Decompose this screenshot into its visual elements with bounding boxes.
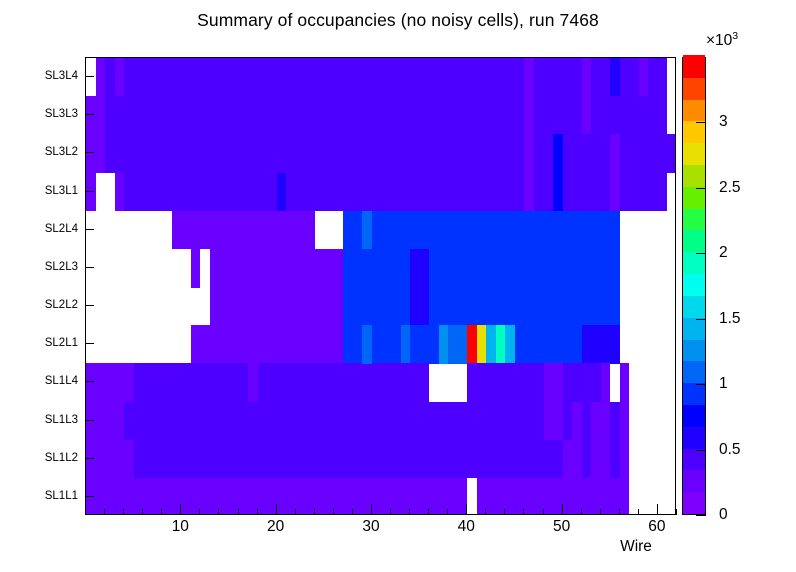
colorbar-tick [696, 253, 706, 254]
colorbar-exponent: ×103 [706, 30, 738, 50]
y-axis-tick [85, 267, 94, 268]
y-axis-tick [85, 152, 94, 153]
y-axis-label-sl2l3: SL2L3 [8, 261, 78, 273]
colorbar-band [683, 295, 705, 317]
heatmap-cell [610, 173, 620, 212]
colorbar-tick-label: 1.5 [719, 310, 741, 328]
heatmap-cell [524, 58, 534, 97]
heatmap-cell [105, 134, 115, 173]
heatmap-cell [210, 287, 343, 326]
heatmap-cell [258, 363, 430, 402]
heatmap-cell [486, 325, 496, 364]
heatmap-cell [343, 249, 619, 288]
y-axis-label-sl2l4: SL2L4 [8, 223, 78, 235]
y-axis-tick [85, 191, 94, 192]
y-axis-label-sl1l1: SL1L1 [8, 490, 78, 502]
colorbar-tick [696, 450, 706, 451]
heatmap-cell [620, 440, 630, 479]
y-axis-tick [85, 458, 94, 459]
colorbar-band [683, 448, 705, 470]
colorbar-tick-label: 0 [719, 506, 728, 524]
heatmap-cell [210, 249, 343, 288]
heatmap-cell [582, 58, 592, 97]
heatmap-cell [86, 478, 343, 515]
colorbar-band [683, 77, 705, 99]
y-axis-label-sl2l1: SL2L1 [8, 337, 78, 349]
heatmap-cell [343, 211, 619, 250]
heatmap-cell [448, 325, 467, 364]
colorbar-tick [696, 122, 706, 123]
heatmap-cell [524, 96, 534, 135]
x-axis-label-60: 60 [648, 518, 665, 536]
heatmap-cell [582, 96, 592, 135]
colorbar-ticks: 00.511.522.53 [706, 57, 776, 515]
heatmap-cell [343, 287, 619, 326]
y-axis-tick [85, 420, 94, 421]
heatmap-cell [620, 363, 630, 402]
x-axis-tick [676, 509, 677, 515]
colorbar-band [683, 208, 705, 230]
heatmap-cell [610, 134, 620, 173]
heatmap-cell [477, 325, 487, 364]
y-axis-label-sl3l3: SL3L3 [8, 108, 78, 120]
y-axis-tick [85, 76, 94, 77]
heatmap-cell [362, 211, 372, 250]
colorbar-band [683, 492, 705, 514]
colorbar-band [683, 121, 705, 143]
heatmap-plot-area [85, 57, 676, 515]
y-axis-tick [85, 343, 94, 344]
heatmap-cell [591, 440, 610, 479]
heatmap-cell [124, 173, 667, 212]
colorbar-tick-label: 2.5 [719, 179, 741, 197]
heatmap-cell [544, 402, 563, 441]
y-axis-labels: SL3L4SL3L3SL3L2SL3L1SL2L4SL2L3SL2L2SL2L1… [8, 57, 78, 515]
heatmap-cell [610, 58, 620, 97]
colorbar-exponent-power: 3 [732, 30, 738, 42]
heatmap-cell [639, 58, 649, 97]
colorbar-band [683, 55, 705, 77]
heatmap-cell [496, 325, 506, 364]
colorbar-band [683, 143, 705, 165]
heatmap-cell [620, 402, 630, 441]
colorbar-band [683, 274, 705, 296]
colorbar-band [683, 383, 705, 405]
y-axis-label-sl1l3: SL1L3 [8, 414, 78, 426]
colorbar-band [683, 99, 705, 121]
colorbar-tick-label: 3 [719, 113, 728, 131]
colorbar-tick [696, 188, 706, 189]
heatmap-cell [601, 363, 611, 402]
heatmap-cell [544, 363, 563, 402]
page-title: Summary of occupancies (no noisy cells),… [0, 10, 796, 31]
heatmap-cell [115, 58, 125, 97]
heatmap-cell [115, 134, 676, 173]
colorbar-tick [696, 515, 706, 516]
colorbar-band [683, 470, 705, 492]
colorbar-tick-label: 0.5 [719, 441, 741, 459]
x-axis-label-50: 50 [553, 518, 570, 536]
x-axis-label-40: 40 [458, 518, 475, 536]
heatmap-cell [248, 211, 315, 250]
colorbar-band [683, 339, 705, 361]
heatmap-cell [467, 363, 543, 402]
y-axis-ticks [85, 57, 97, 515]
heatmap-cell [105, 96, 115, 135]
colorbar-band [683, 361, 705, 383]
y-axis-tick [85, 305, 94, 306]
heatmap-cell [553, 173, 563, 212]
y-axis-tick [85, 114, 94, 115]
heatmap-cell [467, 325, 477, 364]
colorbar-tick [696, 384, 706, 385]
heatmap-cell [191, 325, 344, 364]
y-axis-label-sl1l2: SL1L2 [8, 452, 78, 464]
x-axis-label-20: 20 [267, 518, 284, 536]
heatmap-cell [248, 363, 258, 402]
colorbar-band [683, 426, 705, 448]
heatmap-cell [115, 96, 125, 135]
heatmap-cell [505, 325, 515, 364]
y-axis-label-sl2l2: SL2L2 [8, 299, 78, 311]
heatmap-cell [410, 249, 429, 288]
colorbar-tick-label: 1 [719, 375, 728, 393]
heatmap-cell [115, 173, 125, 212]
heatmap-cell [134, 440, 630, 479]
heatmap-cell [553, 134, 563, 173]
heatmap-cell [524, 173, 534, 212]
x-axis-label-30: 30 [362, 518, 379, 536]
y-axis-tick [85, 496, 94, 497]
heatmap-cell [362, 325, 372, 364]
heatmap-cell [105, 58, 115, 97]
heatmap-cell [524, 134, 534, 173]
colorbar-band [683, 164, 705, 186]
chart-canvas: Summary of occupancies (no noisy cells),… [0, 0, 796, 572]
colorbar-band [683, 252, 705, 274]
y-axis-tick [85, 229, 94, 230]
colorbar [682, 57, 706, 515]
heatmap-cell [582, 325, 620, 364]
heatmap-cell [134, 363, 248, 402]
heatmap-cell [172, 211, 248, 250]
y-axis-label-sl3l4: SL3L4 [8, 70, 78, 82]
heatmap-cell [439, 325, 449, 364]
heatmap-cell [410, 287, 429, 326]
colorbar-band [683, 317, 705, 339]
y-axis-label-sl3l1: SL3L1 [8, 185, 78, 197]
colorbar-exponent-base: ×10 [706, 32, 732, 49]
heatmap-cell [401, 325, 411, 364]
x-axis-label-10: 10 [172, 518, 189, 536]
y-axis-label-sl3l2: SL3L2 [8, 146, 78, 158]
heatmap-cell [477, 478, 630, 515]
heatmap-cell [563, 440, 582, 479]
colorbar-tick [696, 319, 706, 320]
y-axis-label-sl1l4: SL1L4 [8, 375, 78, 387]
heatmap-cell [572, 402, 582, 441]
heatmap-cells [86, 58, 675, 514]
heatmap-cell [277, 173, 287, 212]
y-axis-tick [85, 381, 94, 382]
colorbar-band [683, 230, 705, 252]
heatmap-cell [563, 363, 601, 402]
heatmap-cell [343, 478, 467, 515]
x-axis-title: Wire [620, 538, 652, 556]
colorbar-band [683, 404, 705, 426]
colorbar-tick-label: 2 [719, 244, 728, 262]
colorbar-band [683, 186, 705, 208]
heatmap-cell [191, 249, 201, 288]
heatmap-cell [591, 402, 610, 441]
